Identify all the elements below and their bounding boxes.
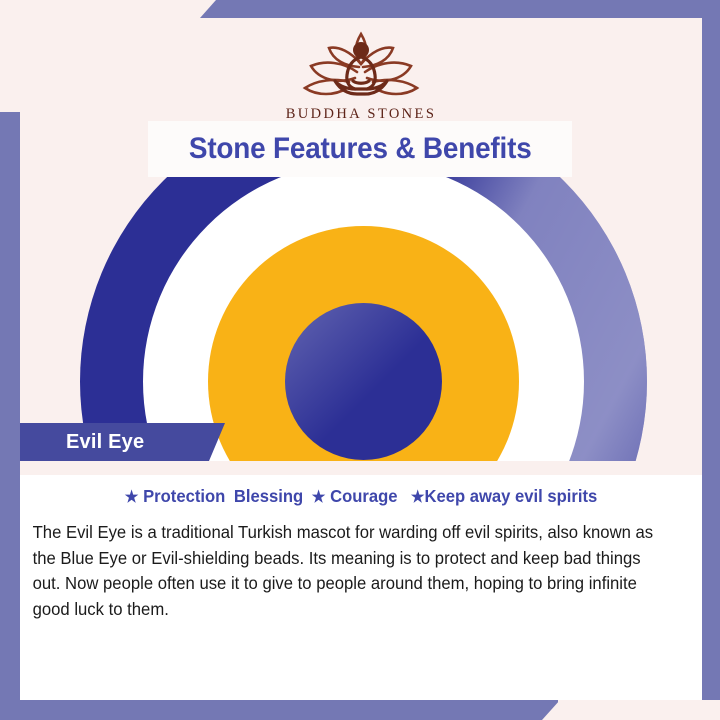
title-banner: Stone Features & Benefits [148,121,572,177]
page-title: Stone Features & Benefits [189,132,532,166]
frame-border-left [0,112,20,720]
brand-logo: BUDDHA STONES [20,26,702,123]
eye-pupil-gloss [285,303,442,460]
evil-eye-amulet-icon [80,177,647,461]
star-icon: ★ [312,489,326,506]
feature-item-keep-away-evil-spirits: Keep away evil spirits [424,486,597,506]
frame-border-top [200,0,720,18]
divider-strip [20,461,702,475]
description-text: The Evil Eye is a traditional Turkish ma… [20,507,682,623]
hero-label-banner: Evil Eye [20,423,225,461]
bottom-right-accent [558,700,720,720]
frame-border-right [702,0,720,720]
feature-item-courage: Courage [330,486,397,506]
star-icon: ★ [411,489,425,506]
hero-label: Evil Eye [20,431,144,454]
feature-item-blessing: Blessing [234,486,303,506]
hero-image: Evil Eye [20,177,702,461]
feature-list: ★ProtectionBlessing★Courage★Keep away ev… [37,475,685,507]
infographic-canvas: BUDDHA STONES Stone Features & Benefits … [0,0,720,720]
description-panel: ★ProtectionBlessing★Courage★Keep away ev… [20,475,702,700]
page-content: BUDDHA STONES Stone Features & Benefits … [20,18,702,700]
star-icon: ★ [125,489,139,506]
feature-item-protection: Protection [143,486,225,506]
frame-border-bottom [0,700,560,720]
lotus-meditation-icon [277,26,445,104]
